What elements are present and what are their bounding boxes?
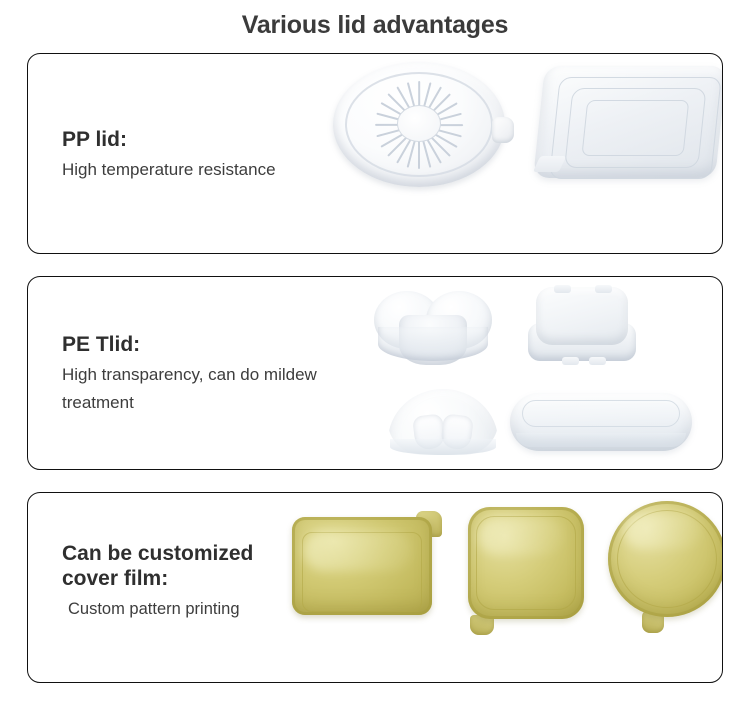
card-pet-lid-products: [278, 277, 722, 469]
round-gold-foil-lid-image: [608, 501, 723, 629]
card-pet-lid-heading: PE Tlid:: [62, 332, 322, 357]
round-pp-lid-tab: [492, 117, 514, 143]
dome-pet-lid-image: [388, 389, 498, 455]
rectangular-pp-lid-body: [533, 66, 723, 178]
card-pp-lid-text: PP lid: High temperature resistance: [62, 127, 276, 184]
card-pp-lid-heading: PP lid:: [62, 127, 276, 152]
round-pp-lid-disc: [333, 62, 505, 187]
card-cover-film-products: [278, 493, 722, 682]
lid-advantage-card-list: PP lid: High temperature resistance: [0, 53, 750, 705]
card-pet-lid-text: PE Tlid: High transparency, can do milde…: [62, 332, 322, 417]
card-pet-lid: PE Tlid: High transparency, can do milde…: [27, 276, 723, 470]
rectangular-pp-lid-image: [533, 60, 723, 188]
card-cover-film: Can be customized cover film: Custom pat…: [27, 492, 723, 683]
card-cover-film-heading: Can be customized cover film:: [62, 541, 253, 591]
page-title: Various lid advantages: [0, 0, 750, 41]
oval-pet-lid-image: [510, 393, 692, 451]
card-pet-lid-subtitle: High transparency, can do mildew treatme…: [62, 361, 322, 417]
card-cover-film-subtitle: Custom pattern printing: [62, 595, 253, 623]
rectangular-gold-foil-lid-image: [292, 511, 440, 618]
card-pp-lid-subtitle: High temperature resistance: [62, 156, 276, 184]
card-pp-lid: PP lid: High temperature resistance: [27, 53, 723, 254]
round-pp-lid-image: [333, 62, 505, 187]
card-cover-film-text: Can be customized cover film: Custom pat…: [62, 541, 253, 623]
card-pp-lid-products: [278, 54, 722, 253]
square-gold-foil-lid-image: [464, 507, 588, 629]
square-pet-lid-image: [528, 287, 636, 367]
heart-shaped-pet-lid-image: [374, 291, 492, 369]
